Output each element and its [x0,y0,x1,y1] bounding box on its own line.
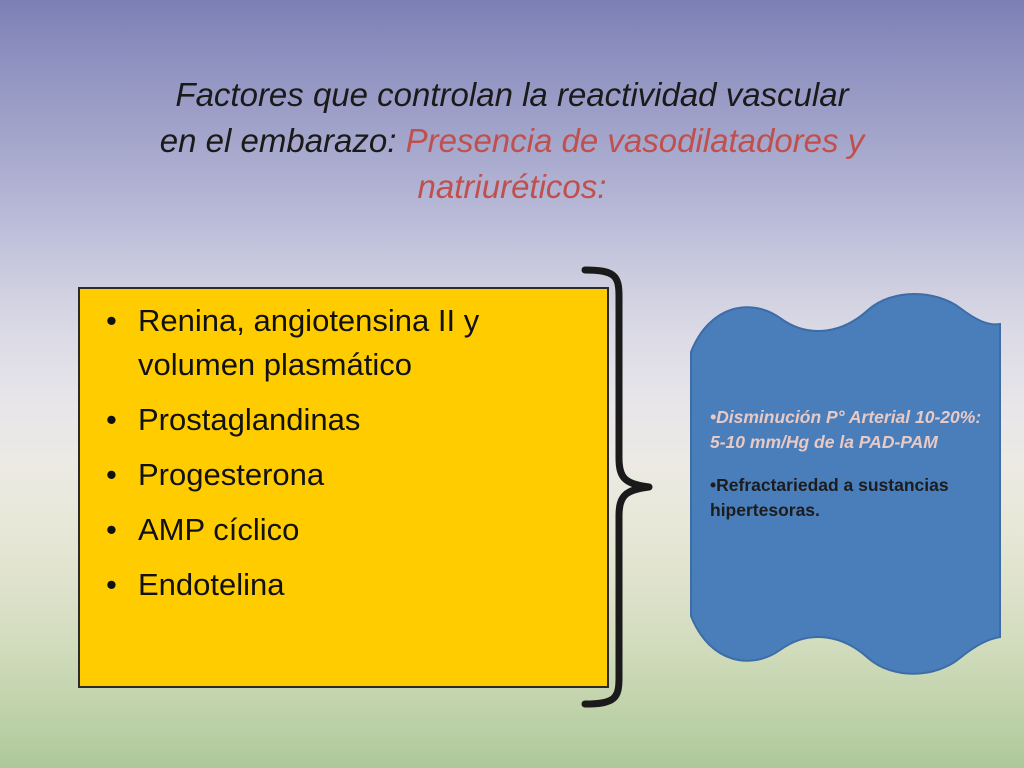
list-item: •Progesterona [92,453,602,497]
list-item-label: Prostaglandinas [138,402,360,437]
list-item-label: Renina, angiotensina II y volumen plasmá… [138,303,479,382]
blue-paragraph-1: •Disminución P° Arterial 10-20%: 5-10 mm… [710,405,990,455]
bullet-icon: • [106,508,117,552]
yellow-content-box: •Renina, angiotensina II y volumen plasm… [78,287,609,688]
bullet-icon: • [106,299,117,343]
title-line-2-plain: en el embarazo: [160,122,406,159]
list-item: •Prostaglandinas [92,398,602,442]
right-brace-icon [575,262,665,712]
title-line-3-accent: natriuréticos: [418,168,607,205]
list-item: •Renina, angiotensina II y volumen plasm… [92,299,602,387]
list-item-label: Progesterona [138,457,324,492]
page-title: Factores que controlan la reactividad va… [50,72,974,210]
bullet-icon: • [106,563,117,607]
title-line-1: Factores que controlan la reactividad va… [175,76,848,113]
list-item-label: Endotelina [138,567,285,602]
bullet-icon: • [106,453,117,497]
list-item: •AMP cíclico [92,508,602,552]
title-line-2-accent: Presencia de vasodilatadores y [406,122,865,159]
slide-canvas: Factores que controlan la reactividad va… [0,0,1024,768]
list-item-label: AMP cíclico [138,512,299,547]
blue-shape-text: •Disminución P° Arterial 10-20%: 5-10 mm… [710,405,990,523]
bullet-icon: • [106,398,117,442]
blue-paragraph-2: •Refractariedad a sustancias hipertesora… [710,473,990,523]
bullet-list: •Renina, angiotensina II y volumen plasm… [92,299,602,618]
list-item: •Endotelina [92,563,602,607]
